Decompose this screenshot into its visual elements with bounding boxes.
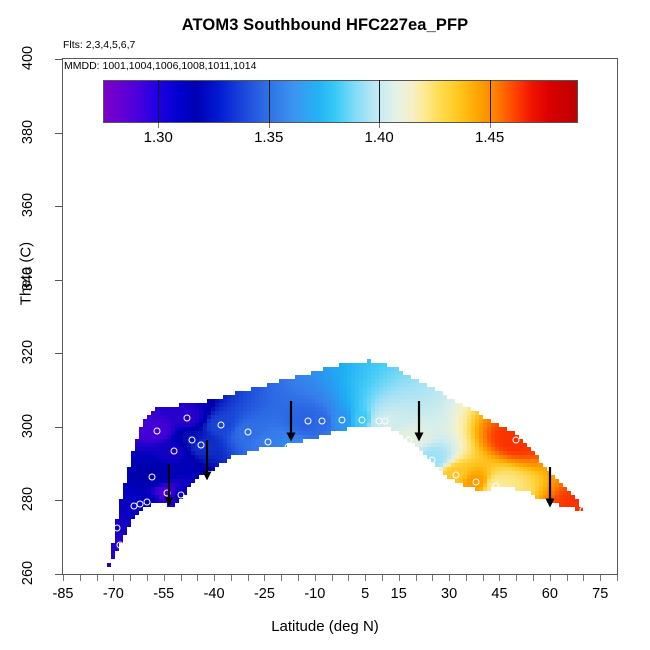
sample-marker [580,506,587,513]
x-tick-label: -10 [304,586,325,602]
x-tick [164,575,165,581]
x-tick-label: 75 [592,586,608,602]
x-axis-label: Latitude (deg N) [0,618,650,635]
y-tick-label: 400 [20,35,36,81]
profile-arrow [201,440,214,480]
y-tick [55,500,62,501]
x-tick [382,575,383,581]
x-tick [516,575,517,581]
x-tick [550,575,551,581]
x-tick [315,575,316,581]
x-tick [214,575,215,581]
x-tick [264,575,265,581]
colorbar-gradient [103,80,578,123]
sample-marker [452,471,459,478]
y-tick-label: 280 [20,476,36,522]
x-tick [449,575,450,581]
sample-marker [405,436,412,443]
x-tick [197,575,198,581]
x-tick [80,575,81,581]
sample-marker [170,447,177,454]
flights-annotation: Flts: 2,3,4,5,6,7 [63,39,135,51]
colorbar-tick-label: 1.40 [365,129,394,146]
profile-arrow [543,467,556,507]
y-tick [55,574,62,575]
colorbar-tick [379,123,380,128]
x-tick-label: 45 [491,586,507,602]
x-tick [399,575,400,581]
x-tick [248,575,249,581]
x-tick [231,575,232,581]
sample-marker [113,525,120,532]
sample-marker [358,416,365,423]
x-tick-label: 30 [441,586,457,602]
y-axis-label: Theta (C) [18,194,35,354]
sample-marker [472,479,479,486]
sample-marker [513,436,520,443]
x-tick-label: -55 [153,586,174,602]
page-title: ATOM3 Southbound HFC227ea_PFP [0,16,650,35]
y-tick [55,280,62,281]
sample-marker [264,438,271,445]
x-tick [298,575,299,581]
sample-marker [429,456,436,463]
mmdd-annotation: MMDD: 1001,1004,1006,1008,1011,1014 [63,60,257,72]
x-tick [499,575,500,581]
x-tick [113,575,114,581]
sample-marker [305,418,312,425]
x-tick [181,575,182,581]
x-tick [466,575,467,581]
profile-arrow [412,401,425,441]
x-tick [600,575,601,581]
sample-marker [493,482,500,489]
sample-marker [117,541,124,548]
x-tick [483,575,484,581]
x-tick-label: -85 [53,586,74,602]
x-tick [281,575,282,581]
colorbar-tick [158,123,159,128]
sample-marker [189,436,196,443]
sample-marker [154,427,161,434]
x-tick-label: -40 [204,586,225,602]
y-tick-label: 300 [20,403,36,449]
chart-page: ATOM3 Southbound HFC227ea_PFP Flts: 2,3,… [0,0,650,650]
sample-marker [177,491,184,498]
colorbar: 1.301.351.401.45 [103,80,578,123]
sample-marker [338,416,345,423]
y-tick-label: 380 [20,109,36,155]
x-tick-label: -25 [254,586,275,602]
x-tick [332,575,333,581]
x-tick [617,575,618,581]
x-tick [348,575,349,581]
colorbar-divider [379,80,380,123]
colorbar-divider [490,80,491,123]
sample-marker [217,422,224,429]
y-tick [55,59,62,60]
sample-marker [382,418,389,425]
sample-marker [318,418,325,425]
x-tick-label: 5 [361,586,369,602]
colorbar-tick-label: 1.30 [144,129,173,146]
x-tick [147,575,148,581]
profile-arrow [285,401,298,441]
x-tick [583,575,584,581]
x-tick-label: -70 [103,586,124,602]
y-tick-label: 260 [20,550,36,596]
colorbar-tick-label: 1.35 [254,129,283,146]
x-tick-label: 60 [542,586,558,602]
x-tick [416,575,417,581]
sample-marker [148,473,155,480]
y-tick [55,427,62,428]
colorbar-tick-label: 1.45 [475,129,504,146]
x-tick [97,575,98,581]
y-tick [55,353,62,354]
y-tick [55,206,62,207]
x-tick [63,575,64,581]
profile-arrow [162,464,175,506]
colorbar-divider [158,80,159,123]
sample-marker [244,429,251,436]
sample-marker [143,499,150,506]
sample-marker [284,444,291,451]
x-tick [567,575,568,581]
colorbar-tick [269,123,270,128]
x-tick [533,575,534,581]
x-tick [432,575,433,581]
sample-marker [184,414,191,421]
x-tick [365,575,366,581]
colorbar-tick [490,123,491,128]
colorbar-divider [269,80,270,123]
x-tick-label: 15 [391,586,407,602]
x-tick [130,575,131,581]
y-tick [55,133,62,134]
